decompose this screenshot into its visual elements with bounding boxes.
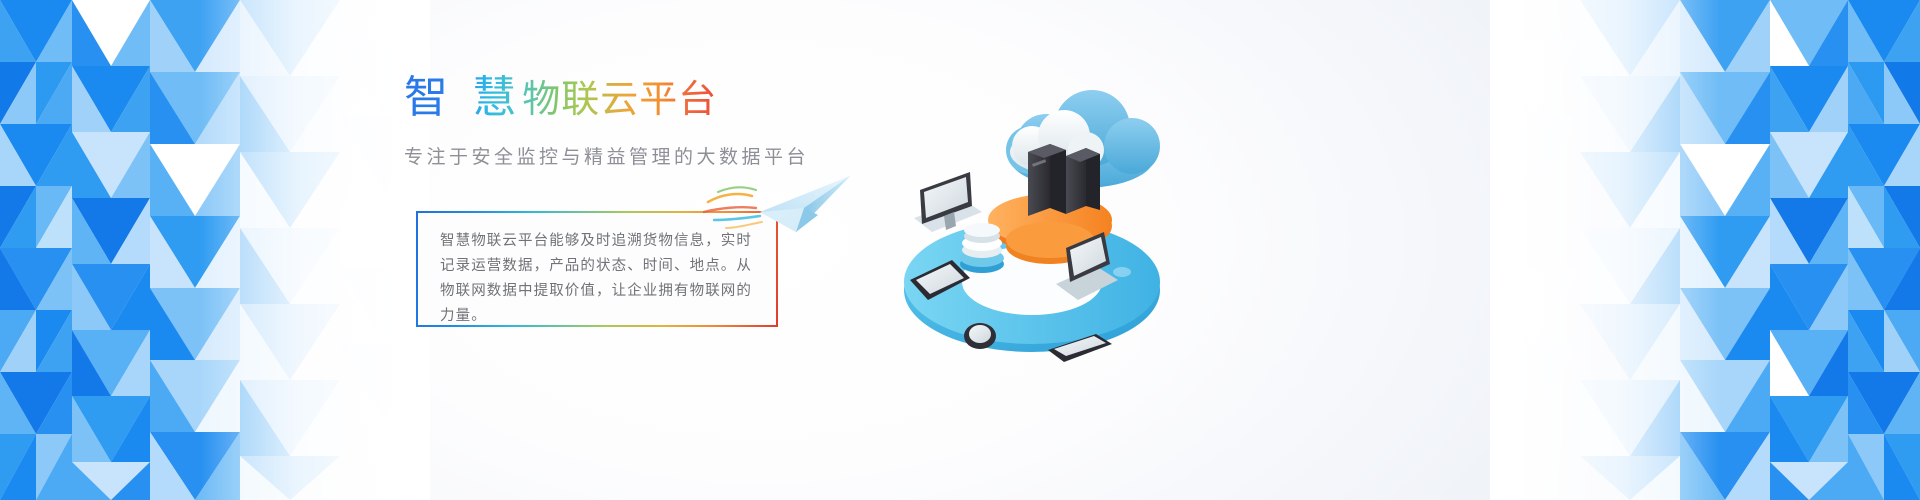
iot-illustration-svg [860, 40, 1260, 380]
triangle-mosaic-right [1490, 0, 1920, 500]
left-pattern-fade [200, 0, 430, 500]
iot-illustration [860, 40, 1260, 380]
page-subtitle: 专注于安全监控与精益管理的大数据平台 [404, 142, 864, 169]
hero-copy: 智 慧物联云平台 专注于安全监控与精益管理的大数据平台 [404, 70, 864, 169]
hero-banner: 智 慧物联云平台 专注于安全监控与精益管理的大数据平台 智慧物联云平台能够及时追… [0, 0, 1920, 500]
triangle-mosaic-left [0, 0, 430, 500]
paper-plane-svg [700, 168, 860, 240]
paper-plane-icon [700, 168, 860, 240]
page-title-primary: 智 慧 [404, 73, 522, 122]
right-pattern-svg [1490, 0, 1920, 500]
desktop-monitor-icon [914, 172, 982, 232]
page-title-secondary: 物联云平台 [522, 79, 717, 121]
description-text: 智慧物联云平台能够及时追溯货物信息，实时 记录运营数据，产品的状态、时间、地点。… [440, 229, 754, 329]
page-title: 智 慧物联云平台 [404, 70, 717, 128]
right-pattern-fade [1490, 0, 1720, 500]
smartwatch-icon [964, 323, 996, 349]
left-pattern-svg [0, 0, 430, 500]
database-stack-icon [960, 223, 1004, 273]
